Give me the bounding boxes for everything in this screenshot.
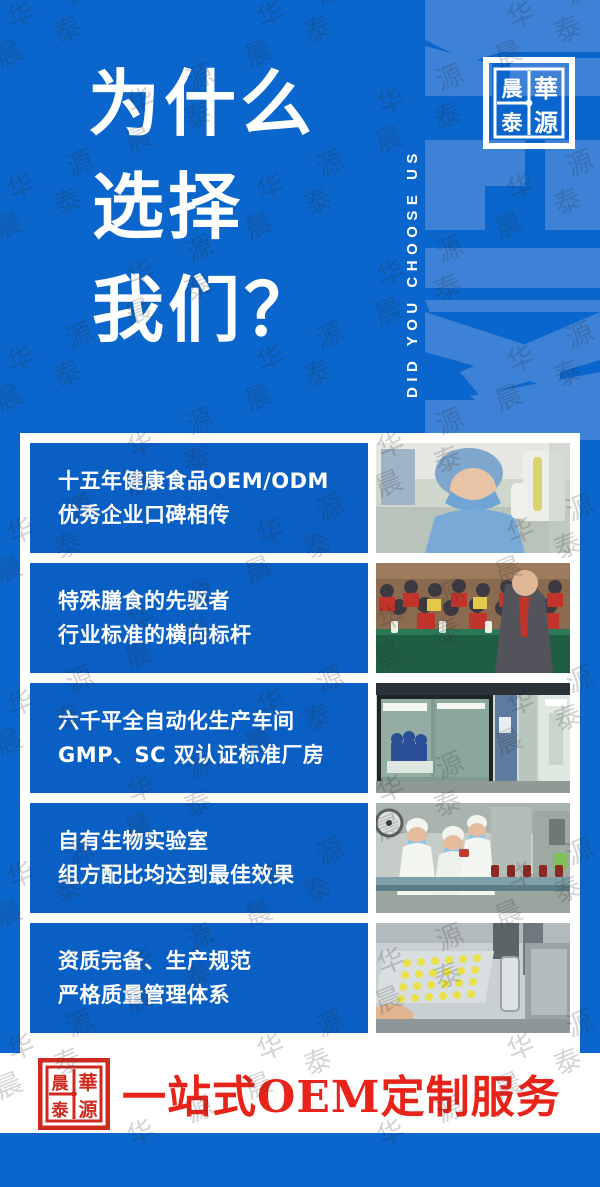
feature-line: 严格质量管理体系 [58, 978, 368, 1012]
company-stamp-white-icon: 晨 華 泰 源 [483, 57, 575, 149]
svg-text:源: 源 [534, 108, 558, 137]
feature-line: 资质完备、生产规范 [58, 944, 368, 978]
feature-line: 组方配比均达到最佳效果 [58, 858, 368, 892]
bottom-blue-strip [0, 1133, 600, 1187]
feature-row[interactable]: 自有生物实验室 组方配比均达到最佳效果 [30, 803, 570, 913]
svg-text:泰: 泰 [52, 1100, 70, 1121]
feature-line: GMP、SC 双认证标准厂房 [58, 738, 368, 772]
feature-photo-production-line [376, 803, 570, 913]
feature-photo-clean-room [376, 683, 570, 793]
feature-photo-lab-technician [376, 443, 570, 553]
feature-line: 十五年健康食品OEM/ODM [58, 464, 368, 498]
feature-row[interactable]: 十五年健康食品OEM/ODM 优秀企业口碑相传 [30, 443, 570, 553]
feature-text-block: 六千平全自动化生产车间 GMP、SC 双认证标准厂房 [30, 683, 368, 793]
svg-text:華: 華 [78, 1071, 97, 1094]
svg-text:源: 源 [78, 1098, 97, 1121]
feature-text-block: 特殊膳食的先驱者 行业标准的横向标杆 [30, 563, 368, 673]
title-line-2: 选择 [88, 155, 320, 258]
feature-row[interactable]: 六千平全自动化生产车间 GMP、SC 双认证标准厂房 [30, 683, 570, 793]
feature-line: 优秀企业口碑相传 [58, 498, 368, 532]
svg-text:晨: 晨 [52, 1074, 70, 1094]
feature-photo-blister-packing [376, 923, 570, 1033]
feature-row[interactable]: 资质完备、生产规范 严格质量管理体系 [30, 923, 570, 1033]
feature-line: 六千平全自动化生产车间 [58, 704, 368, 738]
header-section: 为什么 选择 我们？ DID YOU CHOOSE US 晨 華 泰 源 [0, 0, 600, 433]
feature-text-block: 自有生物实验室 组方配比均达到最佳效果 [30, 803, 368, 913]
feature-text-block: 资质完备、生产规范 严格质量管理体系 [30, 923, 368, 1033]
vertical-subtitle: DID YOU CHOOSE US [404, 8, 430, 398]
feature-row[interactable]: 特殊膳食的先驱者 行业标准的横向标杆 [30, 563, 570, 673]
feature-photo-conference-hall [376, 563, 570, 673]
feature-panel: 十五年健康食品OEM/ODM 优秀企业口碑相传 [20, 433, 580, 1053]
svg-text:晨: 晨 [502, 76, 524, 101]
bottom-cta-text: 一站式OEM定制服务 [122, 1061, 561, 1125]
feature-text-block: 十五年健康食品OEM/ODM 优秀企业口碑相传 [30, 443, 368, 553]
poster-root: 为什么 选择 我们？ DID YOU CHOOSE US 晨 華 泰 源 [0, 0, 600, 1187]
svg-text:泰: 泰 [501, 110, 524, 135]
feature-line: 行业标准的横向标杆 [58, 618, 368, 652]
feature-line: 自有生物实验室 [58, 824, 368, 858]
title-line-3: 我们？ [88, 258, 320, 361]
page-title: 为什么 选择 我们？ [88, 52, 320, 361]
title-line-1: 为什么 [88, 52, 320, 155]
company-stamp-red-icon: 晨 華 泰 源 [38, 1058, 110, 1130]
feature-line: 特殊膳食的先驱者 [58, 584, 368, 618]
svg-text:華: 華 [534, 74, 558, 103]
